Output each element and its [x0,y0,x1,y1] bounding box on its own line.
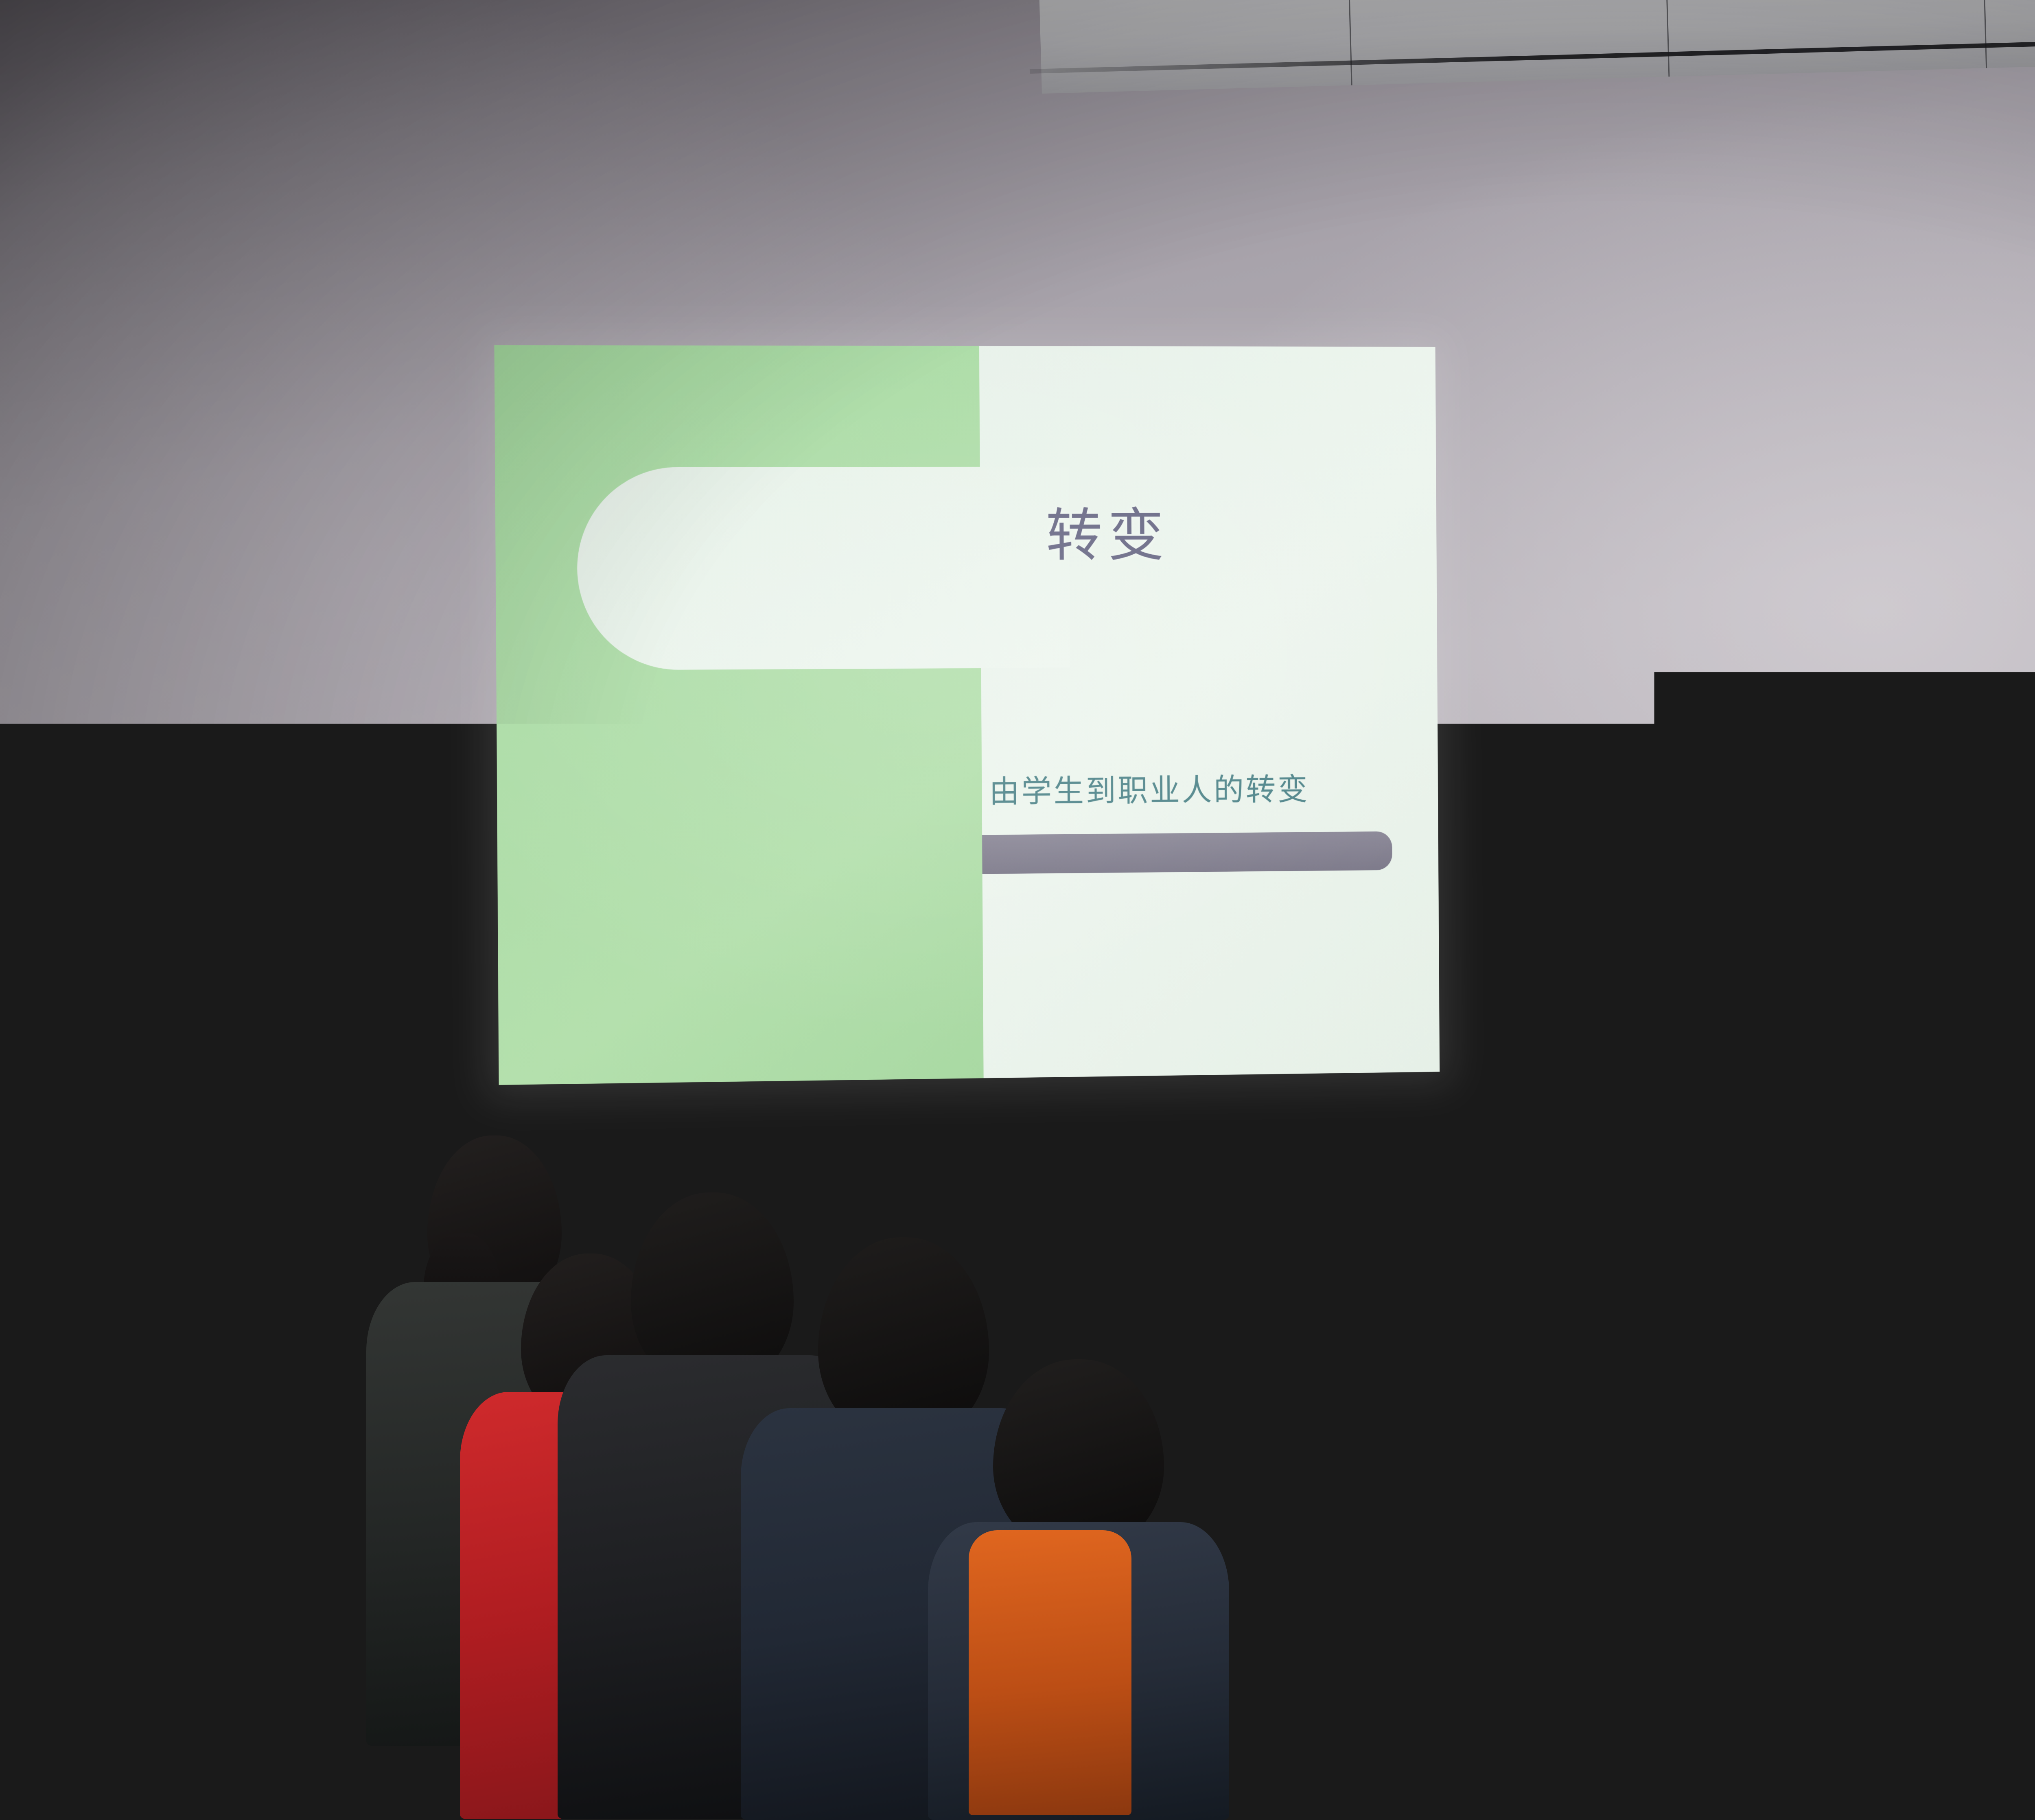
glasses-bridge [1783,904,1792,906]
glasses-lens-right [1791,894,1836,920]
conference-chair[interactable] [103,1510,377,1820]
attendee-jacket [1872,1717,2035,1820]
table-stud [1831,1501,1844,1519]
projected-slide: 转变 由学生到职业人的转变 [494,345,1440,1085]
slide-light-panel [979,346,1440,1078]
lecture-room-photo: 转变 由学生到职业人的转变 DRINKI [0,0,2035,1820]
chair-highlight [0,1469,101,1645]
table-stud [1604,1506,1616,1524]
slide-title: 转变 [1046,488,1170,571]
slide-accent-bar [982,831,1392,874]
list-item [1091,1453,1457,1820]
bottle-shoulder [1967,1342,2006,1369]
bottle-label: DRINKING WATER 冰露 [1966,1366,2007,1406]
chair-highlight [130,1545,255,1683]
attendee-jacket [1115,1681,1449,1820]
list-item [1856,1514,2035,1820]
presenter-nose [1772,917,1786,941]
slide-pill-shape [577,467,1070,670]
bottle-label-cn: 冰露 [1966,1376,2007,1400]
slide-green-panel [494,345,983,1085]
glasses-lens-left [1739,894,1784,920]
bottle-cap [1972,1314,1999,1332]
presenter [1652,808,1962,1483]
slide-subtitle: 由学生到职业人的转变 [989,765,1309,812]
